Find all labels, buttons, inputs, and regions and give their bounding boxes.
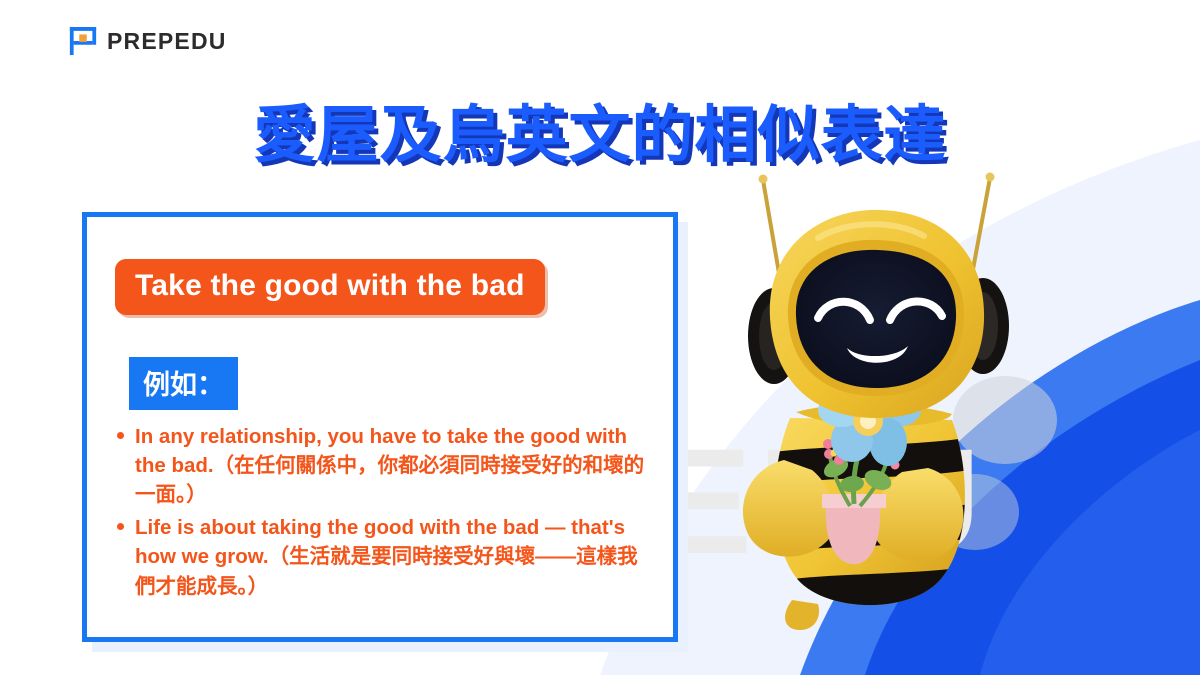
example-label-badge: 例如： <box>129 357 238 410</box>
example-label-text: 例如： <box>143 370 224 401</box>
bee-robot-mascot-illustration <box>700 168 1060 638</box>
list-item: In any relationship, you have to take th… <box>109 422 655 509</box>
bee-robot-mascot <box>700 168 1060 643</box>
mascot-head <box>770 210 984 418</box>
page-title: 愛屋及烏英文的相似表達 <box>0 84 1200 174</box>
phrase-banner: Take the good with the bad <box>115 259 545 315</box>
content-card: Take the good with the bad 例如： In any re… <box>82 212 678 642</box>
mascot-foot <box>785 600 819 630</box>
phrase-text: Take the good with the bad <box>135 269 525 302</box>
brand-logo-text: PREPEDU <box>107 28 227 55</box>
list-item: Life is about taking the good with the b… <box>109 513 655 600</box>
example-list: In any relationship, you have to take th… <box>109 422 655 605</box>
prepedu-logo-icon <box>68 26 98 56</box>
brand-logo[interactable]: PREPEDU <box>68 26 227 56</box>
